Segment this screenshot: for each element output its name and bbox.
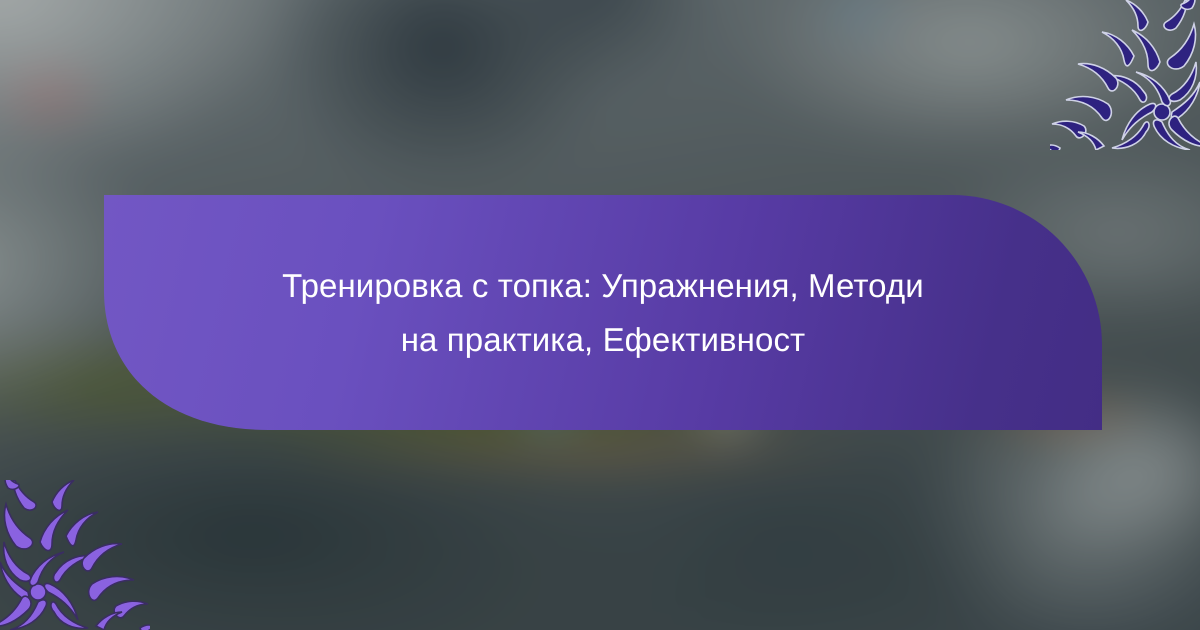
page-title-line-1: Тренировка с топка: Упражнения, Методи xyxy=(282,259,924,312)
page-title: Тренировка с топка: Упражнения, Методи н… xyxy=(104,195,1102,430)
og-card: Тренировка с топка: Упражнения, Методи н… xyxy=(0,0,1200,630)
page-title-line-2: на практика, Ефективност xyxy=(401,313,806,366)
